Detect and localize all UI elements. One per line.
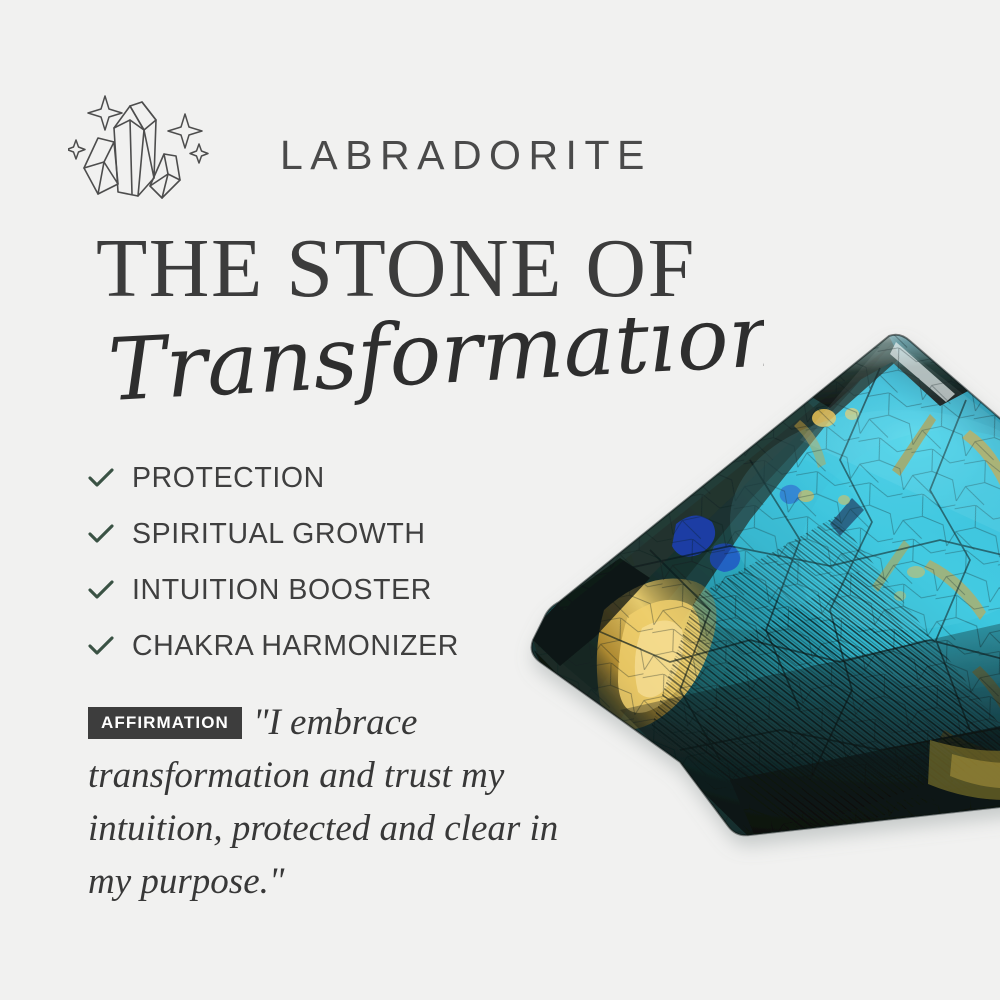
brand-row: LABRADORITE <box>68 82 588 200</box>
list-item-label: SPIRITUAL GROWTH <box>132 518 426 551</box>
check-icon <box>88 523 132 545</box>
stone-body <box>500 310 1000 850</box>
benefits-list: PROTECTION SPIRITUAL GROWTH INTUITION BO… <box>88 450 518 674</box>
list-item-label: INTUITION BOOSTER <box>132 574 432 607</box>
crystal-cluster-icon <box>68 82 218 200</box>
list-item: SPIRITUAL GROWTH <box>88 506 518 562</box>
affirmation-quote-start: "I embrace <box>253 702 418 743</box>
labradorite-stone-image <box>500 310 1000 850</box>
infographic-canvas: LABRADORITE THE STONE OF Transformation … <box>0 0 1000 1000</box>
check-icon <box>88 579 132 601</box>
brand-name: LABRADORITE <box>280 132 652 179</box>
check-icon <box>88 635 132 657</box>
list-item-label: CHAKRA HARMONIZER <box>132 630 459 663</box>
check-icon <box>88 467 132 489</box>
list-item: CHAKRA HARMONIZER <box>88 618 518 674</box>
list-item: INTUITION BOOSTER <box>88 562 518 618</box>
list-item-label: PROTECTION <box>132 462 325 495</box>
affirmation-badge: AFFIRMATION <box>88 707 242 739</box>
page-title: THE STONE OF <box>96 227 696 311</box>
list-item: PROTECTION <box>88 450 518 506</box>
